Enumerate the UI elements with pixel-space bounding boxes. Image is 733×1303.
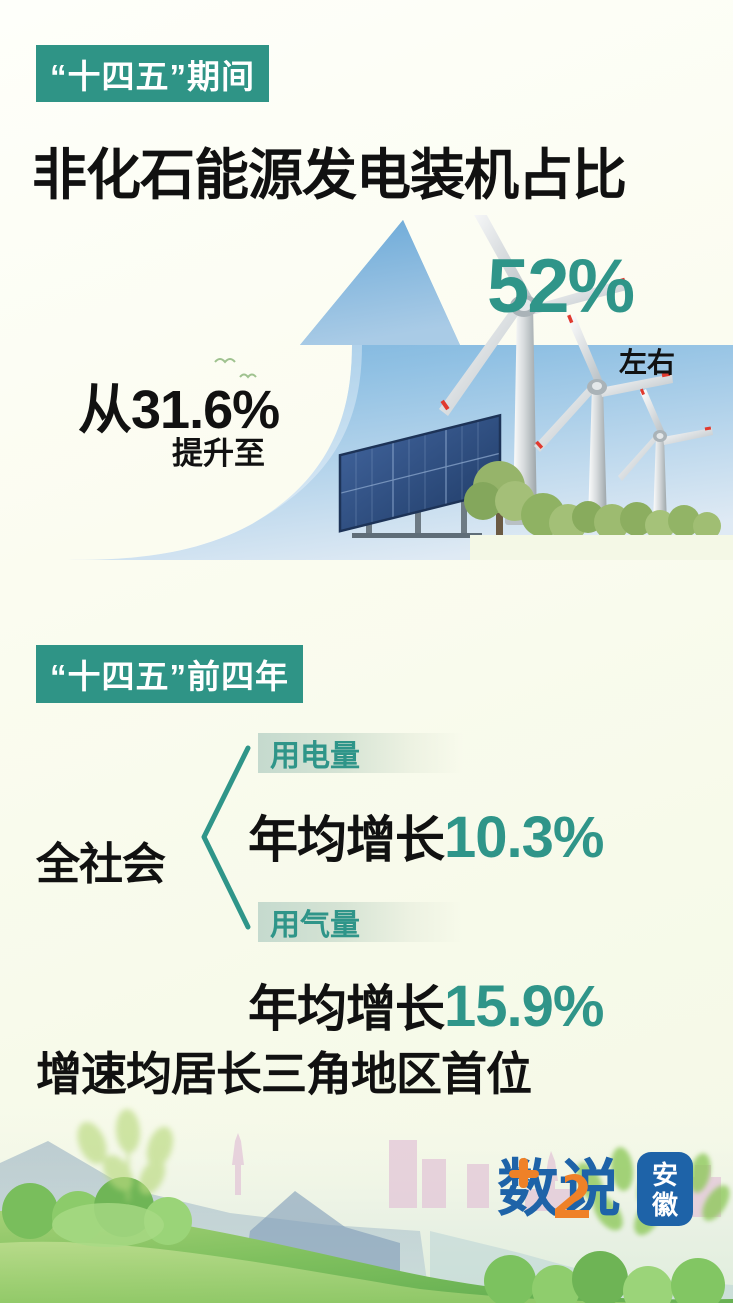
metric-tag-electricity: 用电量 — [258, 733, 463, 773]
metric-row-electricity: 年均增长10.3% — [248, 800, 603, 872]
logo-badge: 安 徽 — [637, 1152, 693, 1226]
metric-tag-gas: 用气量 — [258, 902, 463, 942]
metric-row-gas: 年均增长15.9% — [248, 969, 603, 1041]
logo-badge-text-1: 安 — [652, 1160, 678, 1190]
section-1-badge: “十四五”期间 — [36, 45, 269, 102]
page-title: 非化石能源发电装机占比 — [32, 130, 626, 210]
bracket-icon — [196, 745, 256, 930]
from-caption-label: 提升至 — [172, 428, 265, 473]
brand-logo[interactable]: 数说 安 徽 — [497, 1148, 697, 1230]
metric-label-gas: 年均增长 — [248, 981, 444, 1037]
metric-label-electricity: 年均增长 — [248, 812, 444, 868]
infographic-poster: “十四五”期间 非化石能源发电装机占比 — [0, 0, 733, 1303]
group-label: 全社会 — [36, 828, 165, 892]
section-2-badge: “十四五”前四年 — [36, 645, 303, 703]
to-value-label: 52% — [487, 243, 633, 330]
footnote-text: 增速均居长三角地区首位 — [36, 1038, 531, 1104]
logo-badge-text-2: 徽 — [651, 1190, 679, 1220]
metric-value-gas: 15.9% — [444, 974, 603, 1039]
metric-value-electricity: 10.3% — [444, 805, 603, 870]
to-caption-label: 左右 — [619, 341, 675, 381]
